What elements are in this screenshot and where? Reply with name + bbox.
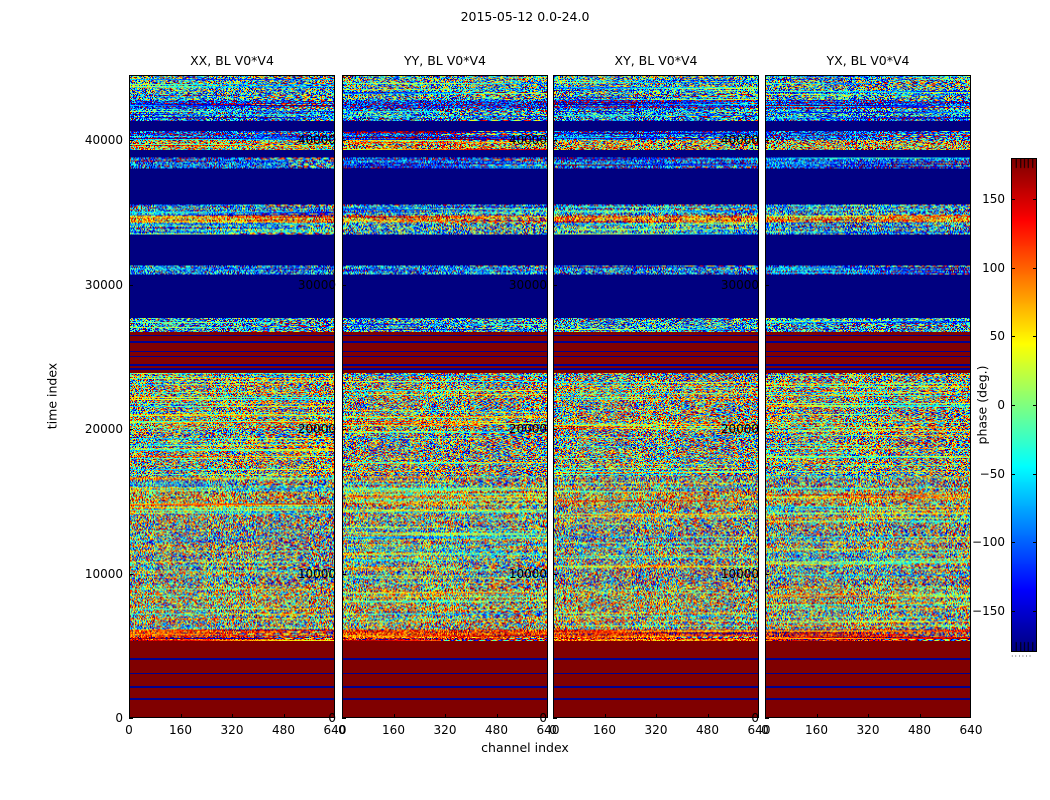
x-tick-mark bbox=[868, 714, 869, 718]
y-tick-mark bbox=[129, 285, 133, 286]
y-tick-mark bbox=[765, 285, 769, 286]
x-tick-label: 160 bbox=[169, 723, 192, 737]
x-tick-label: 480 bbox=[485, 723, 508, 737]
colorbar-tick-mark bbox=[1011, 474, 1015, 475]
x-tick-label: 0 bbox=[549, 723, 557, 737]
x-tick-mark bbox=[765, 714, 766, 718]
heatmap-panel-yx bbox=[765, 75, 971, 718]
y-tick-label: 20000 bbox=[276, 422, 336, 436]
y-tick-label: 0 bbox=[699, 711, 759, 725]
y-tick-mark bbox=[129, 140, 133, 141]
x-tick-mark bbox=[817, 714, 818, 718]
x-tick-mark bbox=[970, 714, 971, 718]
colorbar-tick-mark bbox=[1033, 474, 1037, 475]
y-tick-label: 30000 bbox=[699, 278, 759, 292]
x-tick-mark bbox=[605, 714, 606, 718]
x-tick-mark bbox=[920, 714, 921, 718]
y-tick-mark bbox=[342, 718, 346, 719]
colorbar-tick-label: 50 bbox=[961, 329, 1005, 343]
x-tick-label: 160 bbox=[382, 723, 405, 737]
x-tick-label: 480 bbox=[908, 723, 931, 737]
y-tick-label: 30000 bbox=[276, 278, 336, 292]
y-tick-mark bbox=[553, 140, 557, 141]
x-tick-mark bbox=[181, 714, 182, 718]
heatmap-panel-xy bbox=[553, 75, 759, 718]
x-tick-mark bbox=[656, 714, 657, 718]
figure-canvas: 2015-05-12 0.0-24.0 time index channel i… bbox=[0, 0, 1050, 800]
heatmap-image-yx bbox=[766, 76, 970, 717]
y-tick-label: 30000 bbox=[487, 278, 547, 292]
x-tick-label: 320 bbox=[221, 723, 244, 737]
heatmap-panel-xx bbox=[129, 75, 335, 718]
colorbar-tick-mark bbox=[1011, 199, 1015, 200]
y-axis-label: time index bbox=[45, 363, 60, 429]
y-tick-label: 0 bbox=[63, 711, 123, 725]
y-tick-mark bbox=[342, 429, 346, 430]
panel-title-xy: XY, BL V0*V4 bbox=[553, 53, 759, 68]
colorbar-tick-mark bbox=[1011, 268, 1015, 269]
x-axis-label: channel index bbox=[0, 740, 1050, 755]
x-tick-mark bbox=[445, 714, 446, 718]
panel-title-xx: XX, BL V0*V4 bbox=[129, 53, 335, 68]
y-tick-label: 0 bbox=[276, 711, 336, 725]
heatmap-image-xy bbox=[554, 76, 758, 717]
y-tick-label: 20000 bbox=[63, 422, 123, 436]
y-tick-mark bbox=[765, 140, 769, 141]
y-tick-mark bbox=[553, 574, 557, 575]
y-tick-label: 40000 bbox=[63, 133, 123, 147]
x-tick-mark bbox=[394, 714, 395, 718]
x-tick-label: 480 bbox=[272, 723, 295, 737]
y-tick-label: 10000 bbox=[699, 567, 759, 581]
x-tick-label: 160 bbox=[593, 723, 616, 737]
colorbar-tick-mark bbox=[1033, 268, 1037, 269]
x-tick-label: 640 bbox=[960, 723, 983, 737]
x-tick-mark bbox=[342, 714, 343, 718]
x-tick-label: 480 bbox=[696, 723, 719, 737]
colorbar-under-marker: ······ bbox=[1011, 655, 1037, 659]
y-tick-mark bbox=[765, 574, 769, 575]
figure-suptitle: 2015-05-12 0.0-24.0 bbox=[0, 9, 1050, 24]
colorbar-tick-label: −150 bbox=[961, 604, 1005, 618]
y-tick-label: 10000 bbox=[487, 567, 547, 581]
colorbar-tick-mark bbox=[1033, 405, 1037, 406]
colorbar-tick-mark bbox=[1033, 336, 1037, 337]
y-tick-label: 40000 bbox=[276, 133, 336, 147]
y-tick-mark bbox=[553, 285, 557, 286]
colorbar-tick-mark bbox=[1011, 405, 1015, 406]
y-tick-mark bbox=[765, 718, 769, 719]
y-tick-label: 10000 bbox=[276, 567, 336, 581]
colorbar-tick-mark bbox=[1011, 611, 1015, 612]
y-tick-label: 20000 bbox=[487, 422, 547, 436]
x-tick-label: 0 bbox=[761, 723, 769, 737]
panel-title-yy: YY, BL V0*V4 bbox=[342, 53, 548, 68]
y-tick-label: 20000 bbox=[699, 422, 759, 436]
y-tick-mark bbox=[342, 574, 346, 575]
y-tick-label: 40000 bbox=[487, 133, 547, 147]
x-tick-mark bbox=[232, 714, 233, 718]
x-tick-label: 320 bbox=[645, 723, 668, 737]
y-tick-mark bbox=[553, 429, 557, 430]
y-tick-mark bbox=[129, 574, 133, 575]
x-tick-label: 160 bbox=[805, 723, 828, 737]
colorbar-tick-mark bbox=[1033, 611, 1037, 612]
y-tick-label: 10000 bbox=[63, 567, 123, 581]
y-tick-mark bbox=[129, 718, 133, 719]
heatmap-image-yy bbox=[343, 76, 547, 717]
x-tick-label: 0 bbox=[338, 723, 346, 737]
colorbar-tick-label: 100 bbox=[961, 261, 1005, 275]
x-tick-mark bbox=[129, 714, 130, 718]
colorbar-tick-label: −50 bbox=[961, 467, 1005, 481]
colorbar-tick-label: −100 bbox=[961, 535, 1005, 549]
y-tick-mark bbox=[553, 718, 557, 719]
y-tick-mark bbox=[342, 140, 346, 141]
y-tick-label: 0 bbox=[487, 711, 547, 725]
heatmap-image-xx bbox=[130, 76, 334, 717]
y-tick-mark bbox=[765, 429, 769, 430]
colorbar-label: phase (deg.) bbox=[975, 366, 990, 445]
colorbar-tick-mark bbox=[1033, 199, 1037, 200]
y-tick-label: 30000 bbox=[63, 278, 123, 292]
y-tick-label: 40000 bbox=[699, 133, 759, 147]
heatmap-panel-yy bbox=[342, 75, 548, 718]
x-tick-label: 320 bbox=[857, 723, 880, 737]
x-tick-mark bbox=[547, 714, 548, 718]
colorbar-tick-mark bbox=[1033, 542, 1037, 543]
x-tick-mark bbox=[553, 714, 554, 718]
x-tick-label: 320 bbox=[434, 723, 457, 737]
y-tick-mark bbox=[129, 429, 133, 430]
panel-title-yx: YX, BL V0*V4 bbox=[765, 53, 971, 68]
colorbar-tick-mark bbox=[1011, 336, 1015, 337]
colorbar-tick-label: 150 bbox=[961, 192, 1005, 206]
colorbar-tick-mark bbox=[1011, 542, 1015, 543]
x-tick-label: 0 bbox=[125, 723, 133, 737]
y-tick-mark bbox=[342, 285, 346, 286]
